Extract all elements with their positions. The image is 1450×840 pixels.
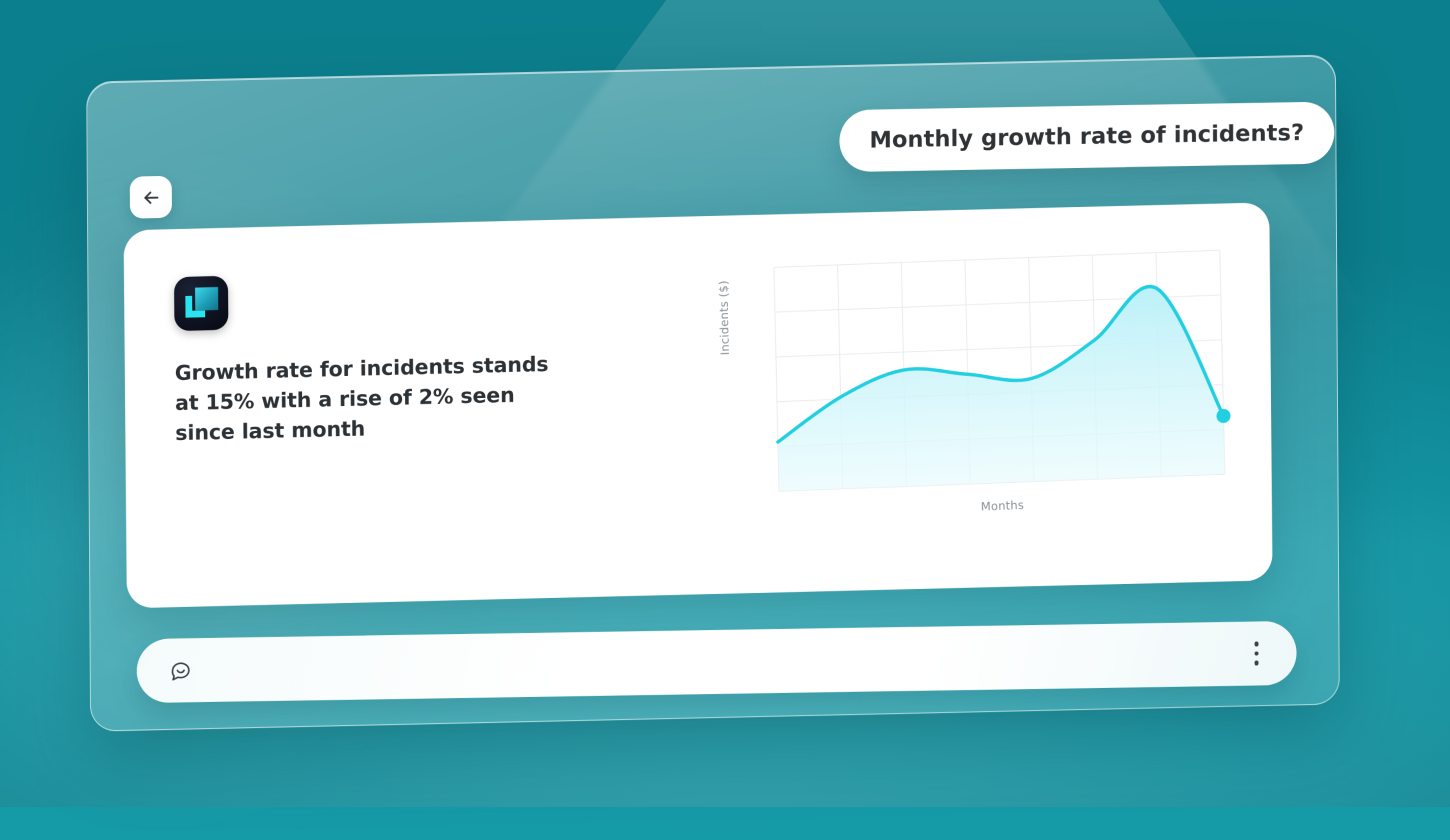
chart-plot-area: [774, 250, 1225, 491]
chart-x-axis-label: Months: [779, 490, 1225, 521]
chart-y-axis-label: Incidents ($): [716, 280, 732, 355]
message-input-field[interactable]: [206, 643, 1250, 680]
chat-bubble-icon: [169, 659, 192, 682]
back-button[interactable]: [130, 176, 172, 219]
user-message-text: Monthly growth rate of incidents?: [869, 120, 1304, 154]
stage: Monthly growth rate of incidents? Growth…: [0, 0, 1450, 807]
assistant-answer-text: Growth rate for incidents stands at 15% …: [175, 349, 576, 449]
incidents-chart: Incidents ($): [722, 239, 1249, 559]
user-message-bubble: Monthly growth rate of incidents?: [839, 101, 1334, 172]
chart-area-fill: [775, 284, 1225, 492]
logo-square-shape: [195, 287, 218, 311]
message-input-bar[interactable]: [137, 621, 1297, 703]
assistant-answer-card: Growth rate for incidents stands at 15% …: [124, 202, 1273, 608]
arrow-left-icon: [140, 186, 161, 207]
app-window-content: Monthly growth rate of incidents? Growth…: [87, 55, 1339, 730]
chart-svg: [774, 250, 1225, 491]
brand-logo-icon: [174, 276, 228, 331]
kebab-menu-icon[interactable]: [1250, 636, 1262, 672]
answer-text-column: Growth rate for incidents stands at 15% …: [174, 267, 575, 449]
app-window: Monthly growth rate of incidents? Growth…: [86, 54, 1340, 731]
